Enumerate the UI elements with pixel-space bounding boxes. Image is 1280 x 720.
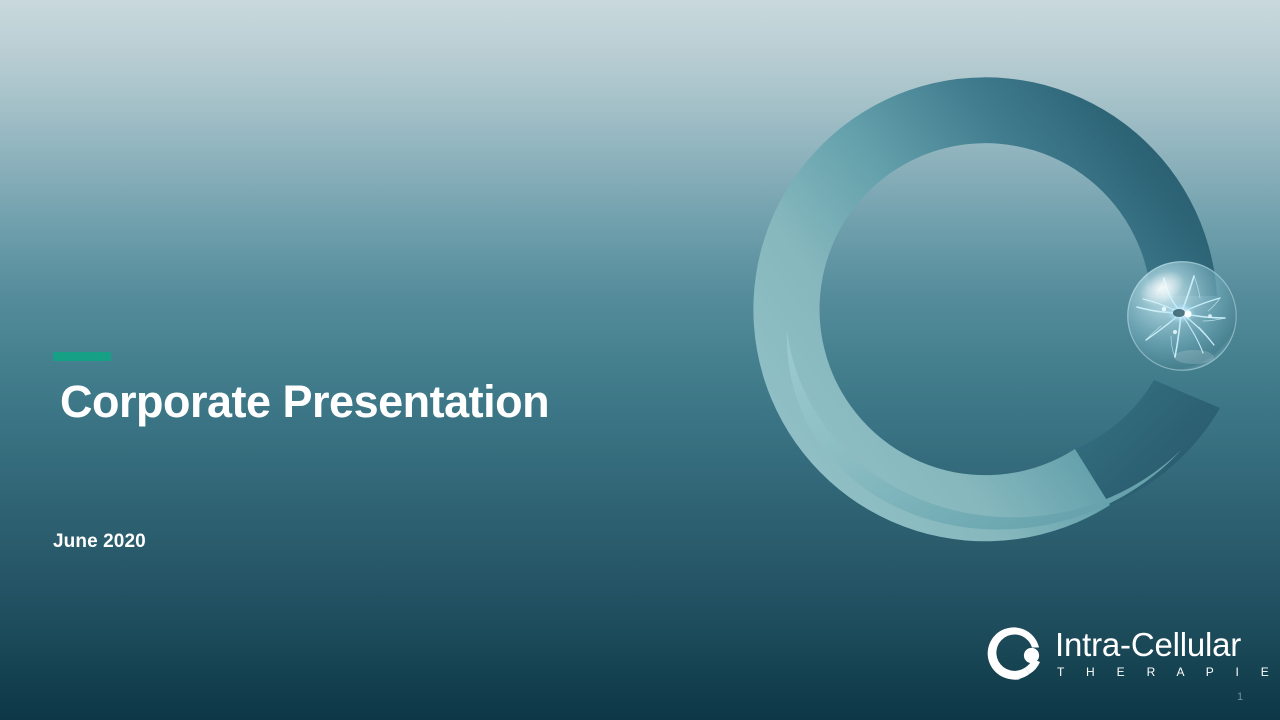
presentation-date: June 2020: [53, 531, 146, 553]
logo-wordmark: Intra-Cellular T H E R A P I E S: [1055, 628, 1245, 679]
logo-company-subtitle: T H E R A P I E S: [1057, 665, 1245, 679]
neuron-sphere: [1124, 258, 1240, 374]
logo-company-name: Intra-Cellular: [1055, 628, 1245, 663]
page-number: 1: [1237, 691, 1243, 703]
intra-cellular-ring-icon: [983, 624, 1049, 690]
presentation-slide: Corporate Presentation June 2020 Intra-C…: [0, 0, 1280, 720]
company-logo: Intra-Cellular T H E R A P I E S: [983, 622, 1241, 694]
page-title: Corporate Presentation: [60, 377, 549, 427]
title-accent-bar: [53, 352, 111, 361]
